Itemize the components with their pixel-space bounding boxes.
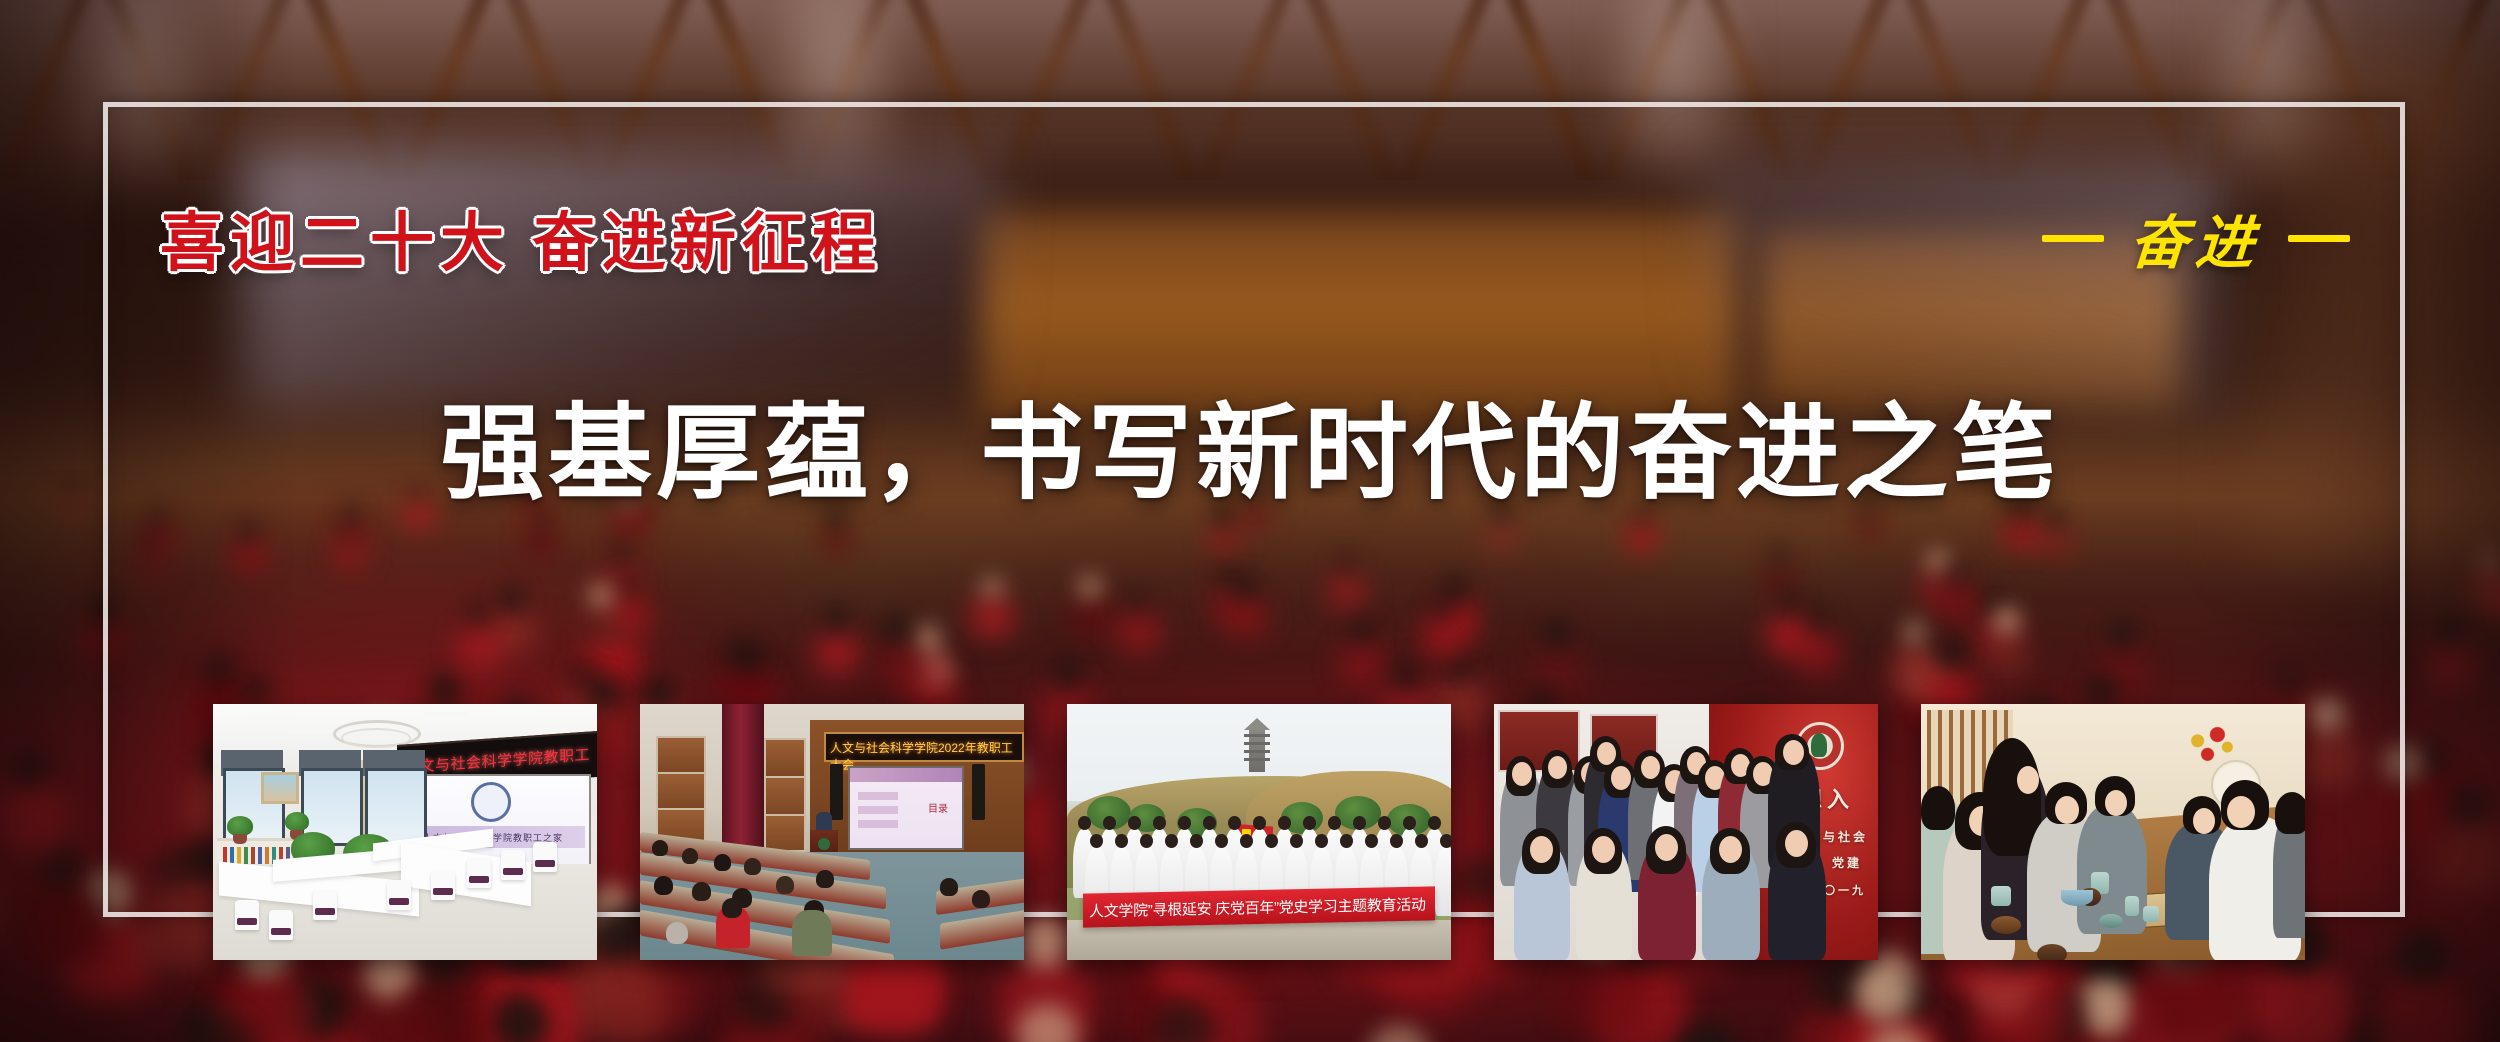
ceiling-lamp — [423, 712, 469, 717]
person-head — [1328, 816, 1341, 830]
person-face — [2227, 796, 2255, 828]
person-head — [1103, 816, 1116, 830]
audience-head — [714, 854, 731, 871]
person-head — [1290, 834, 1303, 848]
audience-head — [816, 870, 834, 888]
slide-title-text: 目录 — [928, 800, 948, 815]
ceiling-lamp — [287, 728, 333, 733]
badge-left-rule — [2042, 235, 2104, 242]
loudspeaker — [830, 764, 843, 820]
audience-head — [652, 840, 668, 856]
person-head — [1315, 834, 1328, 848]
chair — [269, 910, 293, 940]
person-head — [1353, 816, 1366, 830]
person-face — [1530, 836, 1553, 863]
audience-head — [972, 890, 990, 908]
person-head — [1340, 834, 1353, 848]
potted-plant — [285, 812, 309, 831]
wall-panel — [764, 776, 806, 816]
slide-bullet — [858, 820, 898, 828]
person-head — [1165, 834, 1178, 848]
tea-cup — [2125, 896, 2139, 916]
audience-head — [776, 876, 794, 894]
badge-label: 奋进 — [2127, 196, 2265, 280]
chair — [467, 858, 491, 888]
person-face — [1783, 740, 1804, 765]
plant-pot — [233, 834, 247, 844]
audience-head — [940, 878, 958, 896]
person-face — [2105, 790, 2127, 816]
tea-pot — [2037, 944, 2067, 960]
wall-panel — [656, 736, 706, 774]
person-hair — [1921, 786, 1955, 830]
person-face — [1655, 834, 1678, 861]
chair — [533, 842, 557, 872]
projection-screen: 目录 — [848, 766, 964, 850]
thumbnail-faculty-lounge[interactable]: 人文与社会科学学院教职工之家 人文与社会科学学院教职工之家 — [213, 704, 597, 960]
banner-root: 喜迎二十大 奋进新征程 奋进 强基厚蕴，书写新时代的奋进之笔 人文与社会科学学院… — [0, 0, 2500, 1042]
slide-bullet — [858, 792, 898, 800]
audience-head — [666, 922, 688, 944]
chair — [387, 880, 411, 910]
tea-cup — [2143, 906, 2159, 922]
yanan-pagoda — [1249, 726, 1265, 772]
ceiling-lamp — [249, 716, 295, 721]
tea-cup — [1991, 886, 2011, 906]
thumbnail-staff-assembly[interactable]: 人文与社会科学学院2022年教职工大会 目录 — [640, 704, 1024, 960]
wall-painting — [261, 772, 299, 804]
person-head — [1265, 834, 1278, 848]
thumbnail-strip: 人文与社会科学学院教职工之家 人文与社会科学学院教职工之家 — [213, 704, 2305, 960]
potted-plant — [227, 816, 253, 836]
assembly-banner: 人文与社会科学学院2022年教职工大会 — [824, 732, 1024, 762]
person-face — [1641, 756, 1660, 779]
chair — [501, 850, 525, 880]
person-face — [1611, 766, 1631, 790]
person-head — [1215, 834, 1228, 848]
person-face — [2193, 808, 2215, 834]
person-head — [1203, 816, 1216, 830]
person-head — [1078, 816, 1091, 830]
person-head — [1190, 834, 1203, 848]
person-head — [1303, 816, 1316, 830]
tea-cup — [2099, 914, 2123, 928]
loudspeaker — [972, 764, 985, 820]
chair — [431, 870, 455, 900]
wall-panel — [764, 814, 806, 852]
wall-panel — [764, 738, 806, 778]
person-head — [1128, 816, 1141, 830]
tea-cup — [2061, 890, 2093, 906]
person-head — [1178, 816, 1191, 830]
person — [1435, 846, 1451, 916]
person-head — [1140, 834, 1153, 848]
person-head — [1240, 834, 1253, 848]
thumbnail-yanan-trip[interactable]: 人文学院”寻根延安 庆党百年”党史学习主题教育活动 — [1067, 704, 1451, 960]
university-logo-icon — [471, 782, 511, 822]
thumbnail-tea-workshop[interactable] — [1921, 704, 2305, 960]
page-title: 强基厚蕴，书写新时代的奋进之笔 — [0, 368, 2500, 519]
person-head — [1428, 816, 1441, 830]
audience-head — [722, 898, 742, 918]
person-face — [2055, 796, 2079, 824]
person-head — [1390, 834, 1403, 848]
kicker-text: 喜迎二十大 奋进新征程 — [160, 192, 882, 284]
person-head — [1278, 816, 1291, 830]
audience-head — [692, 882, 711, 901]
person-face — [1592, 836, 1615, 863]
person-face — [1785, 830, 1808, 857]
tea-pot — [1991, 916, 2021, 934]
audience-head — [744, 858, 761, 875]
person-head — [1090, 834, 1103, 848]
fenjin-badge: 奋进 — [2042, 196, 2350, 280]
chair — [235, 900, 259, 930]
yanan-banner-text: 人文学院”寻根延安 庆党百年”党史学习主题教育活动 — [1089, 894, 1426, 922]
slide-bullet — [858, 806, 898, 814]
person-hair — [2275, 792, 2305, 834]
person-head — [1253, 816, 1266, 830]
audience-head — [682, 848, 698, 864]
audience-head — [654, 876, 673, 895]
person-head — [1115, 834, 1128, 848]
person-head — [1415, 834, 1428, 848]
person-head — [1228, 816, 1241, 830]
stage-curtain — [722, 704, 764, 856]
person-face — [1719, 836, 1742, 863]
person-head — [1378, 816, 1391, 830]
person-head — [1153, 816, 1166, 830]
slide-header-band — [850, 768, 962, 782]
thumbnail-party-group-photo[interactable]: 思想入 人文与社会 党建 二〇一九 — [1494, 704, 1878, 960]
person-head — [1365, 834, 1378, 848]
backdrop-subtitle-2: 党建 — [1832, 854, 1862, 871]
audience-body — [792, 910, 832, 956]
chair — [313, 890, 337, 920]
person-face — [2017, 766, 2039, 794]
wall-panel — [656, 772, 706, 810]
person-face — [1548, 756, 1567, 779]
person-face — [1512, 762, 1532, 786]
person-head — [1403, 816, 1416, 830]
person-head — [1440, 834, 1451, 848]
badge-right-rule — [2288, 235, 2350, 242]
